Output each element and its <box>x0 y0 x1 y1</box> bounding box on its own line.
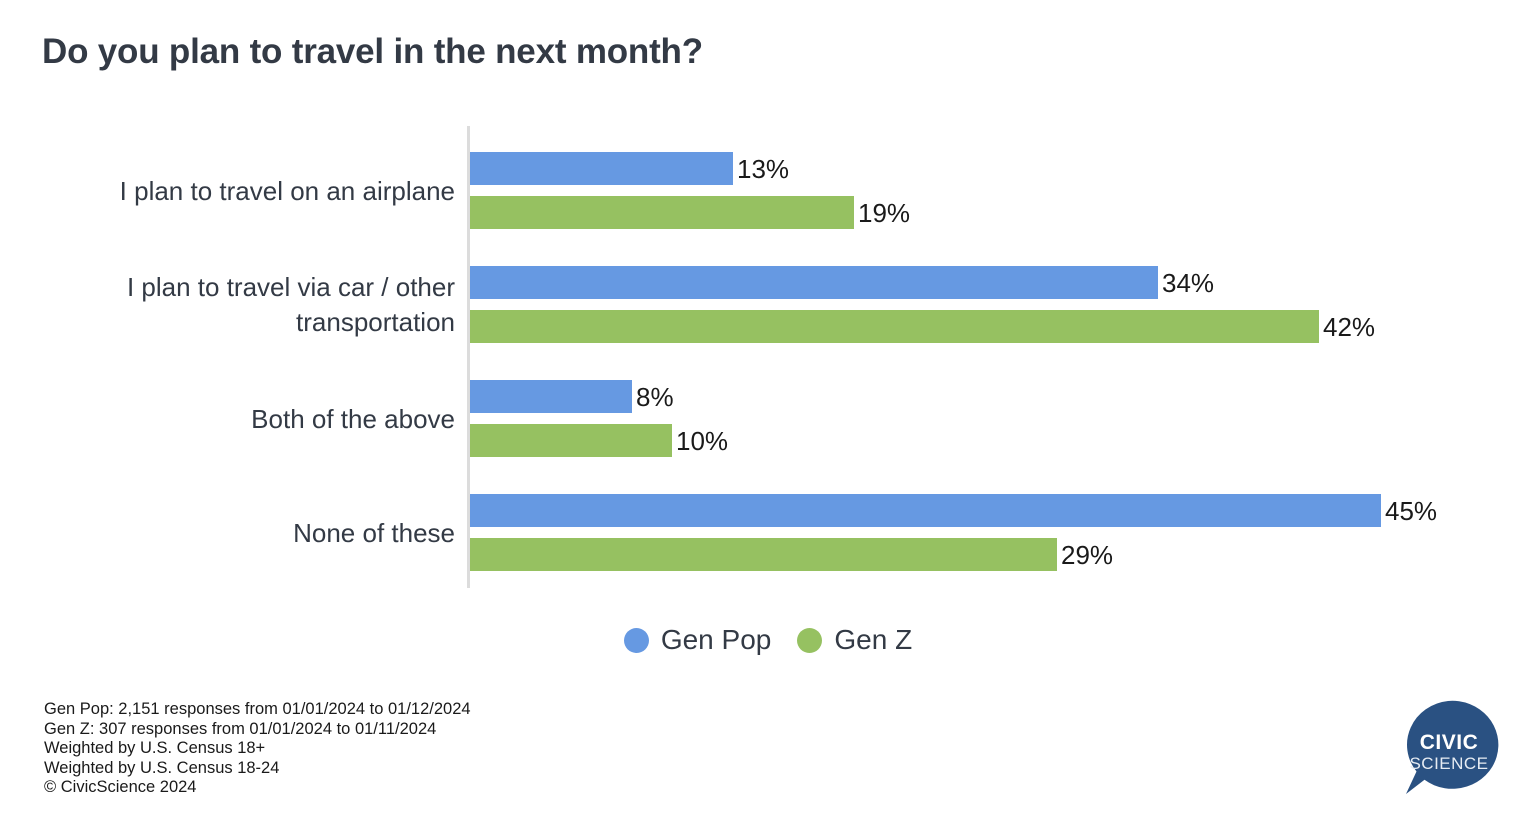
chart-title: Do you plan to travel in the next month? <box>42 32 703 72</box>
plot-area: I plan to travel on an airplane 13% 19% … <box>0 126 1536 590</box>
speech-bubble-icon: CIVIC SCIENCE <box>1396 697 1500 801</box>
footnote-line: Gen Pop: 2,151 responses from 01/01/2024… <box>44 700 471 720</box>
bar-gen-z[interactable] <box>470 424 672 457</box>
logo-line-2: SCIENCE <box>1409 754 1488 773</box>
category-label: Both of the above <box>15 402 455 437</box>
bar-gen-z[interactable] <box>470 310 1319 343</box>
legend-label: Gen Pop <box>661 624 772 656</box>
category-label: None of these <box>15 516 455 551</box>
footnote-line: Gen Z: 307 responses from 01/01/2024 to … <box>44 720 471 740</box>
bar-gen-pop[interactable] <box>470 494 1381 527</box>
bar-value-label: 45% <box>1381 498 1437 524</box>
bar-gen-pop[interactable] <box>470 152 733 185</box>
logo-line-1: CIVIC <box>1420 731 1479 754</box>
bar-value-label: 8% <box>632 384 674 410</box>
bar-gen-z[interactable] <box>470 538 1057 571</box>
legend-item-gen-z[interactable]: Gen Z <box>797 624 912 656</box>
bar-gen-pop[interactable] <box>470 380 632 413</box>
category-label: I plan to travel via car / other transpo… <box>15 270 455 340</box>
legend-item-gen-pop[interactable]: Gen Pop <box>624 624 772 656</box>
footnote-line: © CivicScience 2024 <box>44 778 471 798</box>
bar-value-label: 29% <box>1057 542 1113 568</box>
chart-legend: Gen Pop Gen Z <box>0 624 1536 656</box>
bar-value-label: 34% <box>1158 270 1214 296</box>
bar-value-label: 10% <box>672 428 728 454</box>
legend-label: Gen Z <box>834 624 912 656</box>
footnote-line: Weighted by U.S. Census 18+ <box>44 739 471 759</box>
bar-gen-z[interactable] <box>470 196 854 229</box>
bar-gen-pop[interactable] <box>470 266 1158 299</box>
chart-container: Do you plan to travel in the next month?… <box>0 0 1536 822</box>
footnote-line: Weighted by U.S. Census 18-24 <box>44 759 471 779</box>
bar-value-label: 19% <box>854 200 910 226</box>
bar-value-label: 42% <box>1319 314 1375 340</box>
footnotes: Gen Pop: 2,151 responses from 01/01/2024… <box>44 700 471 798</box>
legend-swatch-icon <box>624 628 649 653</box>
civicscience-logo: CIVIC SCIENCE <box>1396 697 1500 801</box>
legend-swatch-icon <box>797 628 822 653</box>
bar-value-label: 13% <box>733 156 789 182</box>
category-label: I plan to travel on an airplane <box>15 174 455 209</box>
